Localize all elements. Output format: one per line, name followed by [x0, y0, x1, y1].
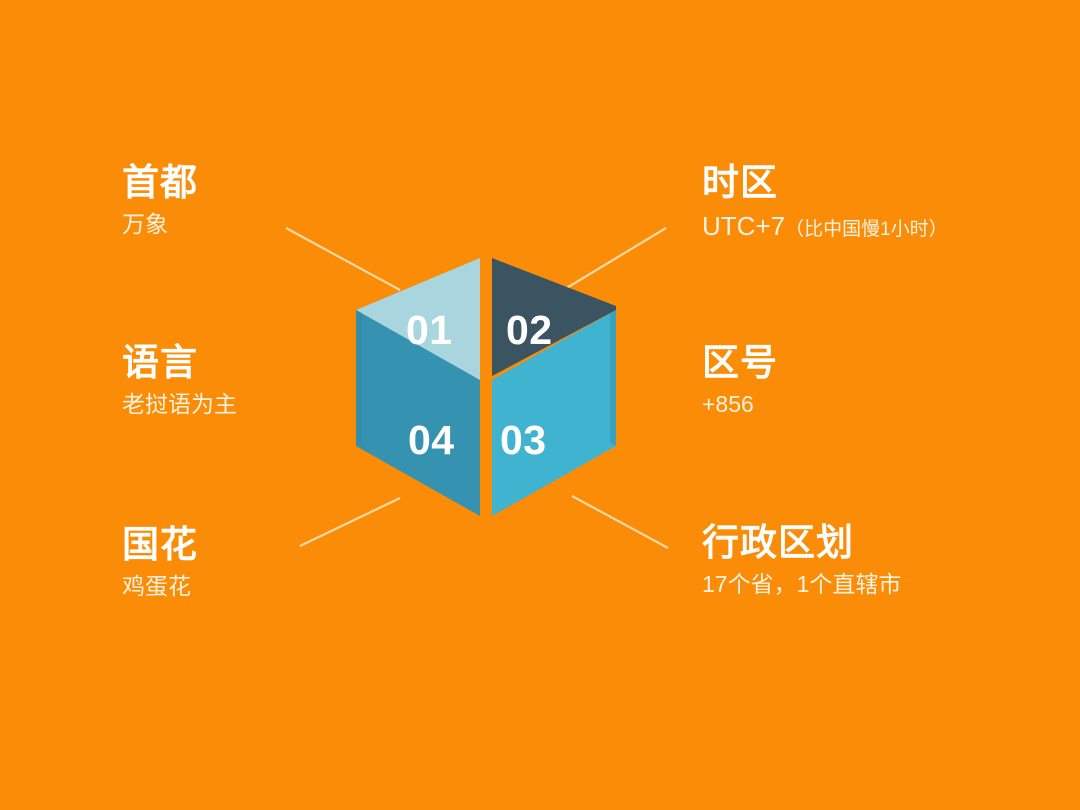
fact-national-flower: 国花 鸡蛋花 [122, 524, 198, 602]
isometric-cube: 01 02 03 04 [340, 248, 640, 558]
fact-timezone-note: （比中国慢1小时） [785, 219, 948, 240]
fact-national-flower-value: 鸡蛋花 [122, 572, 198, 602]
cube-number-01: 01 [406, 310, 453, 351]
cube-number-04: 04 [408, 420, 455, 461]
fact-administrative-divisions-title: 行政区划 [702, 522, 901, 563]
fact-timezone-title: 时区 [702, 162, 948, 203]
fact-area-code: 区号 +856 [702, 342, 778, 420]
cube-number-02: 02 [506, 310, 553, 351]
fact-capital-value: 万象 [122, 210, 198, 240]
fact-area-code-title: 区号 [702, 342, 778, 383]
cube-faces [340, 248, 640, 558]
fact-administrative-divisions: 行政区划 17个省，1个直辖市 [702, 522, 901, 600]
fact-language-value: 老挝语为主 [122, 390, 237, 420]
fact-national-flower-title: 国花 [122, 524, 198, 565]
fact-capital-title: 首都 [122, 162, 198, 203]
slide-canvas: 01 02 03 04 首都 万象 语言 老挝语为主 国花 鸡蛋花 时区 UTC… [0, 0, 1080, 810]
cube-number-03: 03 [500, 420, 547, 461]
fact-language: 语言 老挝语为主 [122, 342, 237, 420]
fact-timezone: 时区 UTC+7（比中国慢1小时） [702, 162, 948, 244]
fact-capital: 首都 万象 [122, 162, 198, 240]
fact-timezone-value: UTC+7（比中国慢1小时） [702, 210, 948, 244]
fact-timezone-utc: UTC+7 [702, 211, 785, 241]
fact-administrative-divisions-value: 17个省，1个直辖市 [702, 570, 901, 600]
cube-edge-right [610, 310, 616, 446]
fact-language-title: 语言 [122, 342, 237, 383]
fact-area-code-value: +856 [702, 390, 778, 420]
cube-edge-left [356, 310, 362, 446]
